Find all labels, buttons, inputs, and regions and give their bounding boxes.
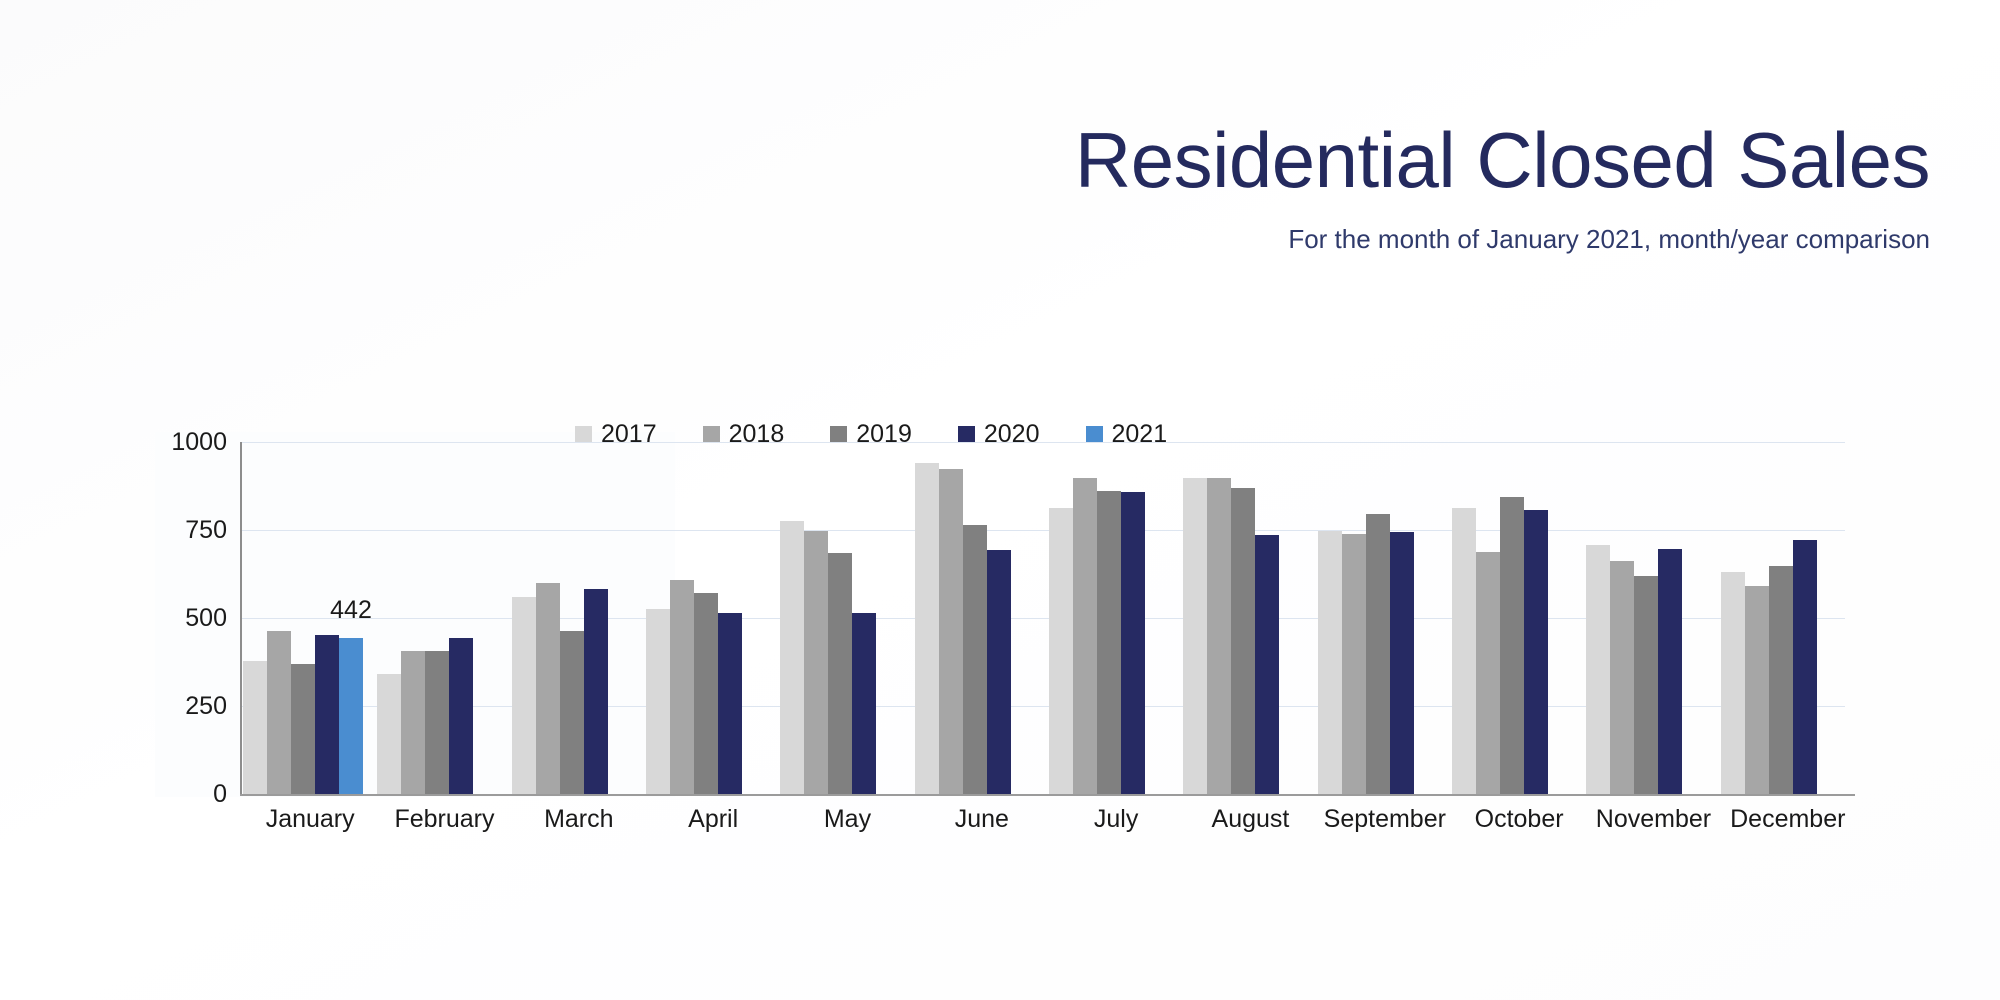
y-axis-line — [240, 442, 242, 795]
x-axis-line — [240, 794, 1855, 796]
x-axis-label-november: November — [1586, 804, 1720, 834]
chart-header: Residential Closed Sales For the month o… — [0, 0, 2000, 254]
legend-swatch-icon — [958, 426, 975, 443]
x-axis-label-august: August — [1183, 804, 1317, 834]
bar-april-2018[interactable] — [670, 580, 694, 794]
y-axis-tick-label: 1000 — [155, 430, 227, 455]
bar-group-july — [1049, 442, 1183, 794]
bar-march-2018[interactable] — [536, 583, 560, 794]
bar-january-2017[interactable] — [243, 661, 267, 794]
bar-february-2019[interactable] — [425, 651, 449, 794]
bar-august-2018[interactable] — [1207, 478, 1231, 794]
y-axis-tick-label: 0 — [155, 782, 227, 807]
bar-september-2017[interactable] — [1318, 531, 1342, 794]
bar-november-2019[interactable] — [1634, 576, 1658, 794]
bar-group-march — [512, 442, 646, 794]
bar-september-2020[interactable] — [1390, 532, 1414, 794]
x-axis-labels: JanuaryFebruaryMarchAprilMayJuneJulyAugu… — [243, 804, 1855, 834]
bar-group-january: 442 — [243, 442, 377, 794]
bar-group-november — [1586, 442, 1720, 794]
page-subtitle: For the month of January 2021, month/yea… — [0, 224, 2000, 254]
x-axis-label-october: October — [1452, 804, 1586, 834]
y-axis-tick-label: 250 — [155, 694, 227, 719]
bar-february-2018[interactable] — [401, 651, 425, 794]
bar-chart: 20172018201920202021 02505007501000 442 … — [155, 432, 1855, 812]
bar-group-february — [377, 442, 511, 794]
bar-may-2018[interactable] — [804, 531, 828, 794]
bar-june-2019[interactable] — [963, 525, 987, 794]
bar-march-2017[interactable] — [512, 597, 536, 794]
bar-november-2017[interactable] — [1586, 545, 1610, 794]
bar-july-2017[interactable] — [1049, 508, 1073, 794]
bar-july-2018[interactable] — [1073, 478, 1097, 794]
x-axis-label-march: March — [512, 804, 646, 834]
bar-april-2017[interactable] — [646, 609, 670, 794]
legend-swatch-icon — [703, 426, 720, 443]
bar-group-june — [915, 442, 1049, 794]
x-axis-label-june: June — [915, 804, 1049, 834]
bar-october-2019[interactable] — [1500, 497, 1524, 794]
bar-may-2019[interactable] — [828, 553, 852, 794]
bar-february-2017[interactable] — [377, 674, 401, 794]
y-axis-tick-label: 750 — [155, 518, 227, 543]
bar-july-2020[interactable] — [1121, 492, 1145, 794]
bar-april-2020[interactable] — [718, 613, 742, 794]
x-axis-label-september: September — [1318, 804, 1452, 834]
bar-october-2018[interactable] — [1476, 552, 1500, 794]
legend-swatch-icon — [575, 426, 592, 443]
bar-march-2020[interactable] — [584, 589, 608, 794]
bar-september-2018[interactable] — [1342, 534, 1366, 794]
bar-february-2020[interactable] — [449, 638, 473, 794]
bar-september-2019[interactable] — [1366, 514, 1390, 794]
x-axis-label-april: April — [646, 804, 780, 834]
bar-january-2019[interactable] — [291, 664, 315, 794]
bar-december-2018[interactable] — [1745, 586, 1769, 794]
bar-groups: 442 — [243, 442, 1855, 794]
bar-august-2019[interactable] — [1231, 488, 1255, 794]
legend-swatch-icon — [1086, 426, 1103, 443]
bar-group-april — [646, 442, 780, 794]
bar-group-october — [1452, 442, 1586, 794]
bar-november-2018[interactable] — [1610, 561, 1634, 794]
x-axis-label-january: January — [243, 804, 377, 834]
bar-value-label: 442 — [330, 598, 372, 623]
bar-group-december — [1721, 442, 1855, 794]
x-axis-label-december: December — [1721, 804, 1855, 834]
bar-group-august — [1183, 442, 1317, 794]
bar-january-2018[interactable] — [267, 631, 291, 794]
legend-swatch-icon — [830, 426, 847, 443]
bar-march-2019[interactable] — [560, 631, 584, 794]
bar-october-2017[interactable] — [1452, 508, 1476, 794]
bar-july-2019[interactable] — [1097, 491, 1121, 794]
bar-june-2020[interactable] — [987, 550, 1011, 794]
bar-august-2017[interactable] — [1183, 478, 1207, 794]
x-axis-label-may: May — [780, 804, 914, 834]
bar-may-2017[interactable] — [780, 521, 804, 794]
bar-june-2017[interactable] — [915, 463, 939, 794]
page-title: Residential Closed Sales — [0, 118, 2000, 202]
y-axis-tick-label: 500 — [155, 606, 227, 631]
x-axis-label-february: February — [377, 804, 511, 834]
bar-december-2019[interactable] — [1769, 566, 1793, 794]
bar-october-2020[interactable] — [1524, 510, 1548, 794]
bar-group-september — [1318, 442, 1452, 794]
bar-group-may — [780, 442, 914, 794]
bar-june-2018[interactable] — [939, 469, 963, 794]
bar-december-2020[interactable] — [1793, 540, 1817, 794]
bar-november-2020[interactable] — [1658, 549, 1682, 794]
bar-may-2020[interactable] — [852, 613, 876, 794]
bar-april-2019[interactable] — [694, 593, 718, 794]
x-axis-label-july: July — [1049, 804, 1183, 834]
bar-january-2021[interactable]: 442 — [339, 638, 363, 794]
bar-january-2020[interactable] — [315, 635, 339, 794]
bar-december-2017[interactable] — [1721, 572, 1745, 794]
bar-august-2020[interactable] — [1255, 535, 1279, 794]
